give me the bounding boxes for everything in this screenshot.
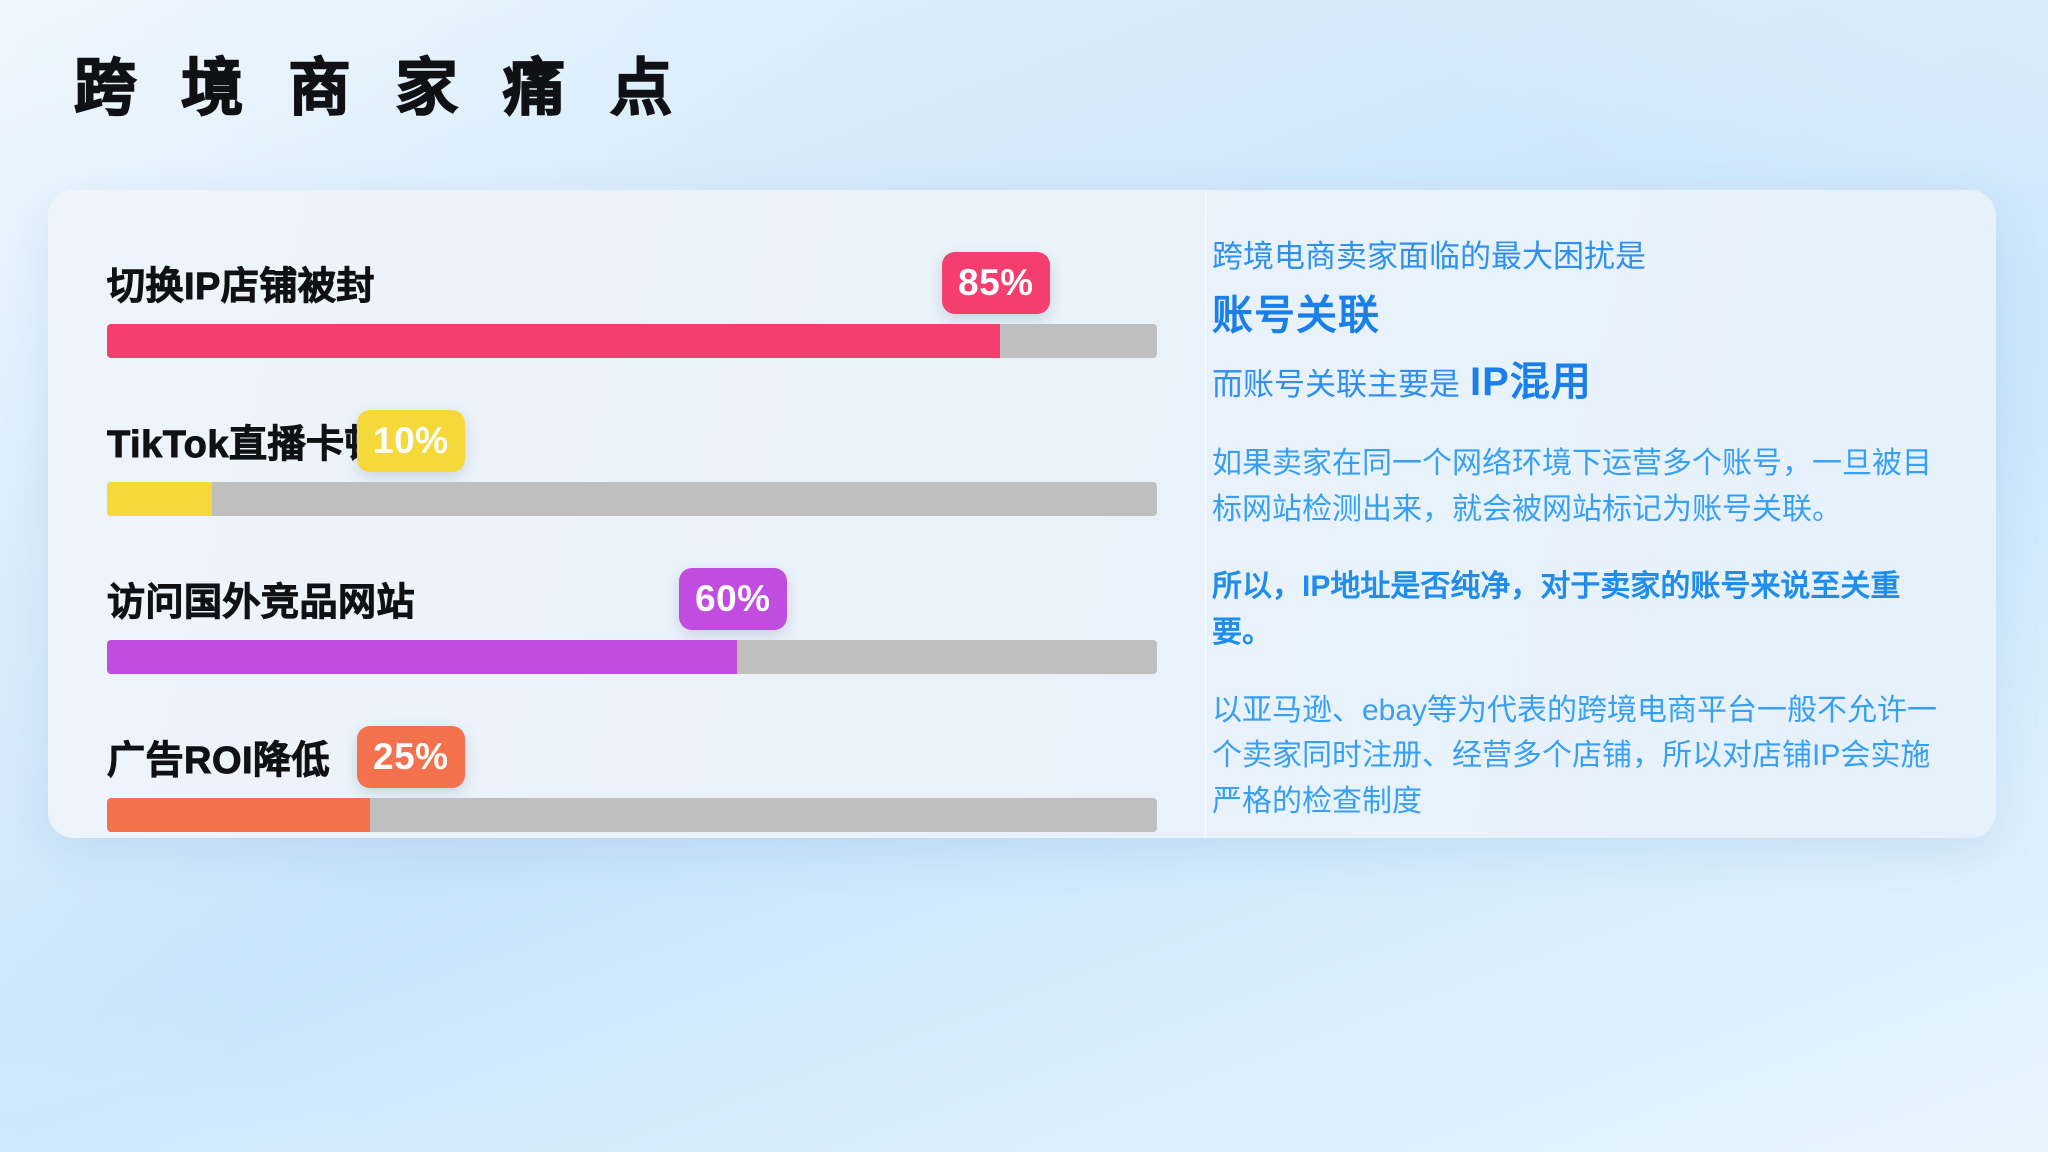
copy-lede: 跨境电商卖家面临的最大困扰是 [1212,236,1952,278]
copy-paragraph: 如果卖家在同一个网络环境下运营多个账号，一旦被目标网站检测出来，就会被网站标记为… [1212,441,1952,532]
bar-label: TikTok直播卡顿 [107,413,383,468]
bar-fill [107,482,212,516]
bar-value-badge: 10% [357,410,465,472]
pain-point-bar-chart: 切换IP店铺被封85%TikTok直播卡顿10%访问国外竞品网站60%广告ROI… [107,226,1167,858]
copy-paragraph: 以亚马逊、ebay等为代表的跨境电商平台一般不允许一个卖家同时注册、经营多个店铺… [1212,688,1952,825]
slide-root: 跨 境 商 家 痛 点 切换IP店铺被封85%TikTok直播卡顿10%访问国外… [0,0,2048,1152]
bar-label: 切换IP店铺被封 [107,255,375,310]
bar-label: 广告ROI降低 [107,729,330,784]
bar-track [107,482,1157,516]
bar-header: TikTok直播卡顿10% [107,384,1167,480]
bar-value-badge: 25% [357,726,465,788]
copy-paragraph: 所以，IP地址是否纯净，对于卖家的账号来说至关重要。 [1212,564,1952,655]
bar-fill [107,324,1000,358]
copy-keyword: 账号关联 [1212,288,1952,342]
card-column-divider [1205,190,1206,838]
bar-track [107,798,1157,832]
bar-header: 切换IP店铺被封85% [107,226,1167,322]
copy-paragraph-list: 如果卖家在同一个网络环境下运营多个账号，一旦被目标网站检测出来，就会被网站标记为… [1212,441,1952,824]
bar-row: TikTok直播卡顿10% [107,384,1167,542]
bar-track [107,324,1157,358]
bar-value-badge: 60% [679,568,787,630]
content-card: 切换IP店铺被封85%TikTok直播卡顿10%访问国外竞品网站60%广告ROI… [48,190,1996,838]
bar-track [107,640,1157,674]
bar-header: 广告ROI降低25% [107,700,1167,796]
page-title: 跨 境 商 家 痛 点 [74,56,686,121]
bar-fill [107,798,370,832]
bar-row: 切换IP店铺被封85% [107,226,1167,384]
bar-row: 广告ROI降低25% [107,700,1167,858]
bar-header: 访问国外竞品网站60% [107,542,1167,638]
bar-row: 访问国外竞品网站60% [107,542,1167,700]
bar-label: 访问国外竞品网站 [107,571,415,626]
bar-value-badge: 85% [942,252,1050,314]
bar-fill [107,640,737,674]
copy-lede-secondary-prefix: 而账号关联主要是 [1212,367,1460,402]
copy-lede-secondary: 而账号关联主要是IP混用 [1212,356,1952,410]
copy-lede-secondary-strong: IP混用 [1470,360,1592,404]
explanation-column: 跨境电商卖家面临的最大困扰是 账号关联 而账号关联主要是IP混用 如果卖家在同一… [1212,236,1952,824]
